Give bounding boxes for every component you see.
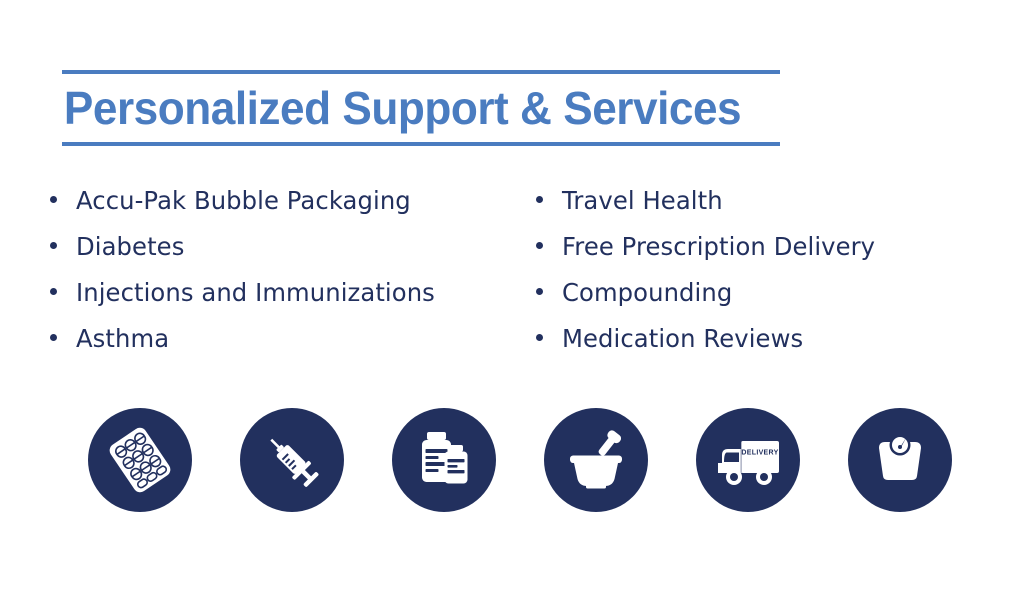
services-right-column: Travel Health Free Prescription Delivery… bbox=[536, 178, 1006, 362]
list-item: Diabetes bbox=[50, 224, 530, 270]
pill-bottles-icon bbox=[412, 428, 476, 492]
services-left-column: Accu-Pak Bubble Packaging Diabetes Injec… bbox=[50, 178, 530, 362]
list-item: Free Prescription Delivery bbox=[536, 224, 1006, 270]
page-title: Personalized Support & Services bbox=[62, 74, 751, 142]
list-item: Compounding bbox=[536, 270, 1006, 316]
truck-delivery-text: DELIVERY bbox=[741, 450, 778, 457]
slide-canvas: Personalized Support & Services Accu-Pak… bbox=[0, 0, 1025, 590]
list-item: Asthma bbox=[50, 316, 530, 362]
list-item: Medication Reviews bbox=[536, 316, 1006, 362]
bullet-dot-icon bbox=[50, 288, 57, 295]
icon-badge-blister-pack bbox=[88, 408, 192, 512]
bullet-dot-icon bbox=[536, 242, 543, 249]
bullet-dot-icon bbox=[536, 196, 543, 203]
icon-badge-syringe bbox=[240, 408, 344, 512]
mortar-pestle-icon bbox=[562, 426, 630, 494]
title-rule-bottom bbox=[62, 142, 780, 146]
weight-scale-icon bbox=[868, 428, 932, 492]
service-label: Compounding bbox=[562, 270, 732, 316]
list-item: Travel Health bbox=[536, 178, 1006, 224]
bullet-dot-icon bbox=[50, 334, 57, 341]
service-label: Medication Reviews bbox=[562, 316, 803, 362]
service-label: Diabetes bbox=[76, 224, 184, 270]
icon-badge-mortar-pestle bbox=[544, 408, 648, 512]
delivery-truck-icon: DELIVERY bbox=[713, 425, 783, 495]
blister-pack-icon bbox=[107, 427, 173, 493]
list-item: Accu-Pak Bubble Packaging bbox=[50, 178, 530, 224]
icon-badge-delivery-truck: DELIVERY bbox=[696, 408, 800, 512]
icon-badges-row: DELIVERY bbox=[0, 408, 1025, 518]
bullet-dot-icon bbox=[536, 288, 543, 295]
list-item: Injections and Immunizations bbox=[50, 270, 530, 316]
bullet-dot-icon bbox=[50, 196, 57, 203]
bullet-dot-icon bbox=[536, 334, 543, 341]
icon-badge-pill-bottles bbox=[392, 408, 496, 512]
title-block: Personalized Support & Services bbox=[62, 70, 780, 146]
service-label: Free Prescription Delivery bbox=[562, 224, 875, 270]
bullet-dot-icon bbox=[50, 242, 57, 249]
service-label: Injections and Immunizations bbox=[76, 270, 435, 316]
services-columns: Accu-Pak Bubble Packaging Diabetes Injec… bbox=[0, 178, 1025, 368]
service-label: Travel Health bbox=[562, 178, 723, 224]
icon-badge-weight-scale bbox=[848, 408, 952, 512]
syringe-icon bbox=[260, 428, 324, 492]
service-label: Asthma bbox=[76, 316, 169, 362]
service-label: Accu-Pak Bubble Packaging bbox=[76, 178, 411, 224]
